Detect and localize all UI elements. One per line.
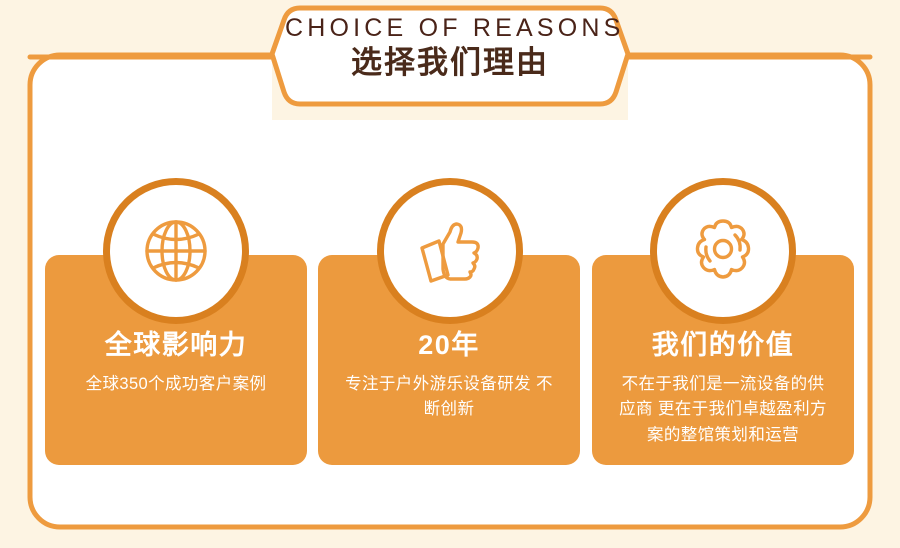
globe-icon bbox=[136, 211, 216, 291]
icon-badge-globe bbox=[103, 178, 249, 324]
card-title: 20年 bbox=[328, 331, 570, 361]
card-description: 专注于户外游乐设备研发 不断创新 bbox=[328, 372, 570, 423]
card-content: 我们的价值 不在于我们是一流设备的供应商 更在于我们卓越盈利方案的整馆策划和运营 bbox=[602, 331, 844, 448]
card-title: 我们的价值 bbox=[602, 331, 844, 361]
ribbon-shape bbox=[272, 8, 628, 104]
thumbs-up-icon bbox=[410, 211, 490, 291]
card-description: 全球350个成功客户案例 bbox=[55, 372, 297, 398]
card-content: 全球影响力 全球350个成功客户案例 bbox=[55, 331, 297, 397]
icon-badge-thumbs-up bbox=[377, 178, 523, 324]
promo-banner-root: CHOICE OF REASONS 选择我们理由 全球影响力 全球350个成功客… bbox=[0, 0, 900, 548]
card-title: 全球影响力 bbox=[55, 331, 297, 361]
card-content: 20年 专注于户外游乐设备研发 不断创新 bbox=[328, 331, 570, 423]
gear-icon bbox=[683, 211, 763, 291]
card-description: 不在于我们是一流设备的供应商 更在于我们卓越盈利方案的整馆策划和运营 bbox=[602, 372, 844, 449]
icon-badge-gear bbox=[650, 178, 796, 324]
